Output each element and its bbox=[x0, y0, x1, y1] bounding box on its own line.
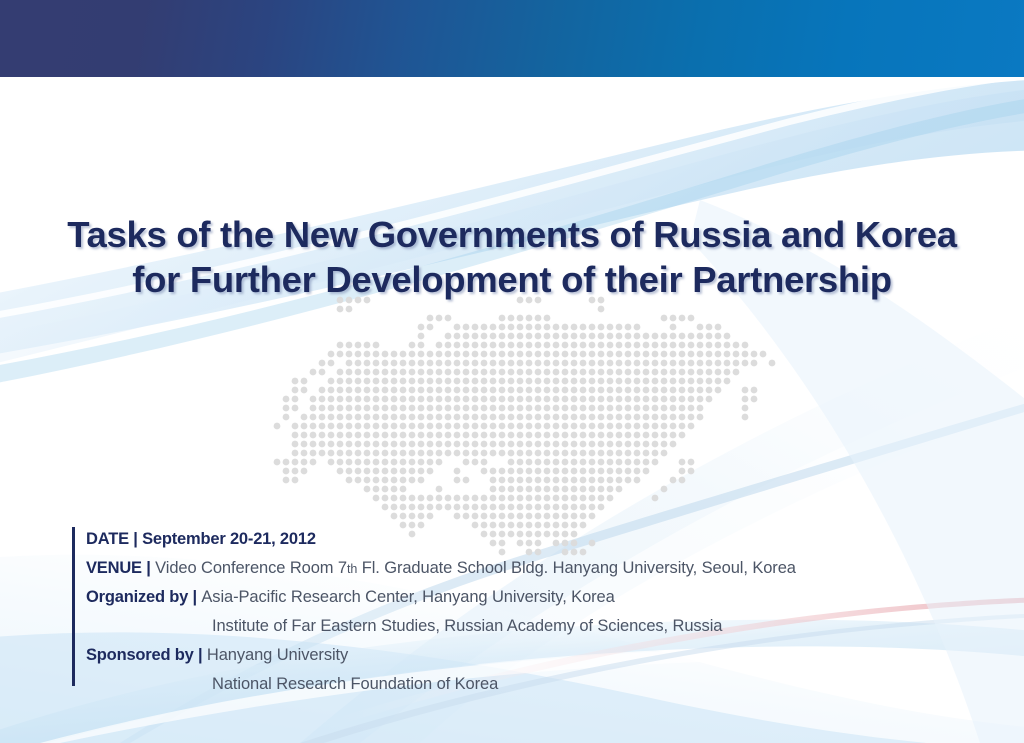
sponsored-label: Sponsored by | bbox=[86, 646, 202, 664]
venue-value-ordinal: th bbox=[347, 562, 357, 576]
info-row-venue: VENUE | Video Conference Room 7th Fl. Gr… bbox=[86, 554, 796, 583]
page-title-line-1: Tasks of the New Governments of Russia a… bbox=[0, 212, 1024, 257]
venue-label: VENUE | bbox=[86, 559, 151, 577]
info-row-sponsored-2: National Research Foundation of Korea bbox=[86, 670, 796, 699]
organized-value-2: Institute of Far Eastern Studies, Russia… bbox=[212, 617, 722, 635]
date-value: September 20-21, 2012 bbox=[138, 530, 316, 548]
info-row-sponsored: Sponsored by | Hanyang University bbox=[86, 641, 796, 670]
info-row-organized: Organized by | Asia-Pacific Research Cen… bbox=[86, 583, 796, 612]
venue-value-b: Fl. Graduate School Bldg. Hanyang Univer… bbox=[357, 559, 796, 577]
organized-value-1: Asia-Pacific Research Center, Hanyang Un… bbox=[197, 588, 615, 606]
organized-label: Organized by | bbox=[86, 588, 197, 606]
info-row-organized-2: Institute of Far Eastern Studies, Russia… bbox=[86, 612, 796, 641]
info-vertical-rule bbox=[72, 527, 75, 686]
page-title-line-2: for Further Development of their Partner… bbox=[0, 257, 1024, 302]
date-label: DATE | bbox=[86, 530, 138, 548]
page-title: Tasks of the New Governments of Russia a… bbox=[0, 212, 1024, 302]
header-band bbox=[0, 0, 1024, 77]
sponsored-value-1: Hanyang University bbox=[202, 646, 348, 664]
conference-poster: The 24th Korea-Russia International Conf… bbox=[0, 0, 1024, 743]
venue-value-a: Video Conference Room 7 bbox=[155, 559, 347, 577]
info-row-date: DATE | September 20-21, 2012 bbox=[86, 525, 796, 554]
sponsored-value-2: National Research Foundation of Korea bbox=[212, 675, 498, 693]
venue-value: Video Conference Room 7th Fl. Graduate S… bbox=[151, 559, 796, 577]
info-lines: DATE | September 20-21, 2012 VENUE | Vid… bbox=[86, 525, 796, 699]
